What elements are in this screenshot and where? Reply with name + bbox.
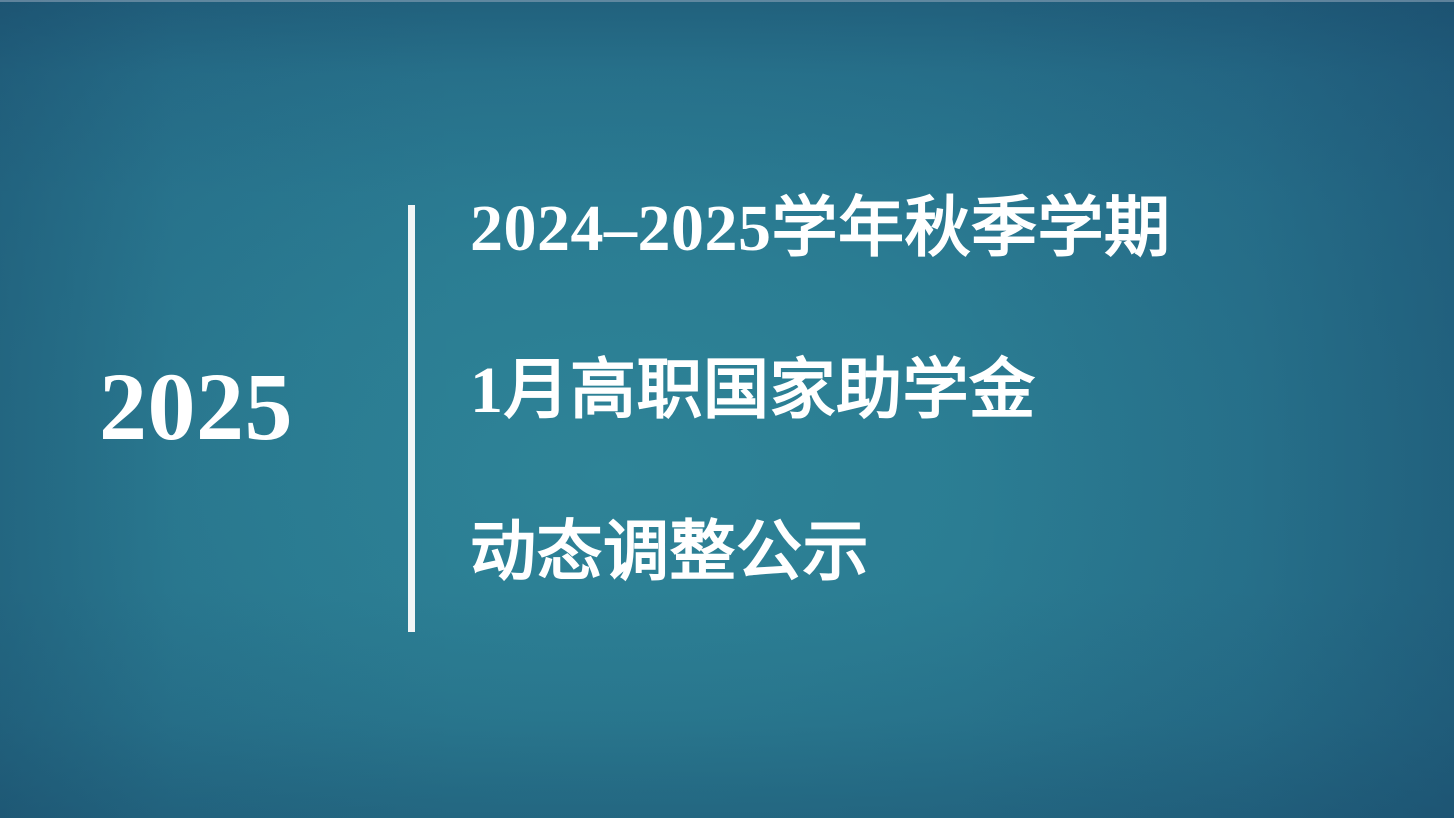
title-line-1: 2024–2025学年秋季学期 [470,196,1410,262]
year-block: 2025 [0,352,392,462]
title-line-2: 1月高职国家助学金 [470,358,1410,424]
title-slide: 2025 2024–2025学年秋季学期 1月高职国家助学金 动态调整公示 [0,0,1454,818]
title-block: 2024–2025学年秋季学期 1月高职国家助学金 动态调整公示 [470,196,1410,586]
top-edge-hairline [0,0,1454,2]
title-line-3: 动态调整公示 [470,520,1410,586]
year-label: 2025 [99,359,293,455]
vertical-divider [408,205,415,632]
